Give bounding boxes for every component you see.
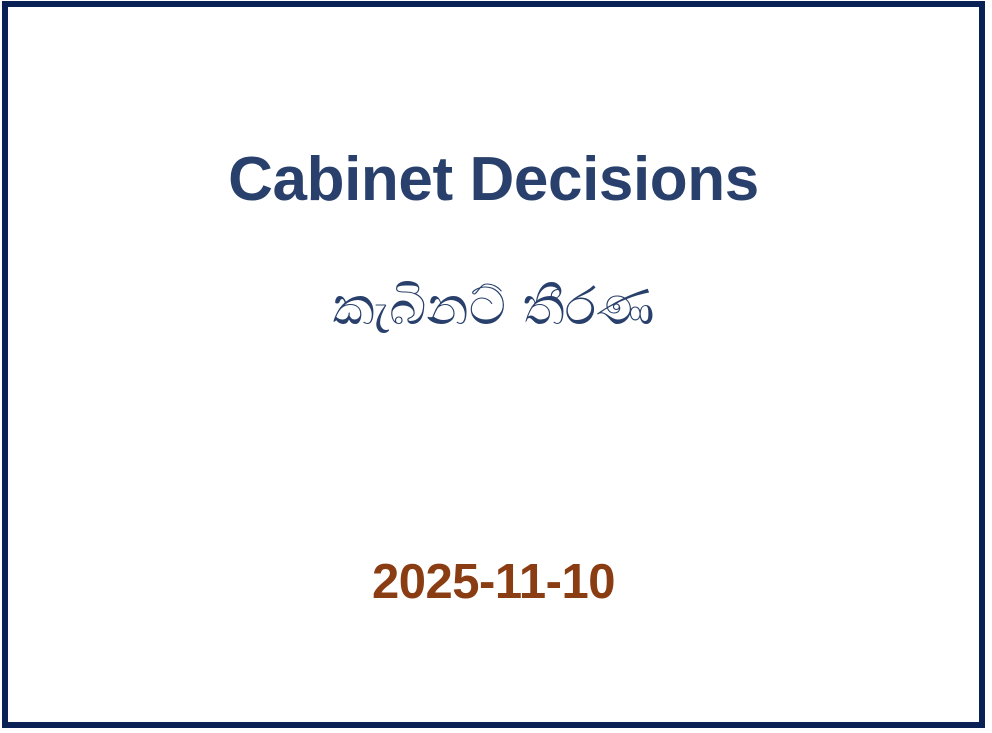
cover-content: Cabinet Decisions කැබිනට් තීරණ 2025-11-1… (8, 7, 979, 722)
title-block: Cabinet Decisions කැබිනට් තීරණ (8, 147, 979, 338)
page-title-english: Cabinet Decisions (8, 147, 979, 214)
document-date: 2025-11-10 (8, 556, 979, 610)
page-title-sinhala: කැබිනට් තීරණ (8, 276, 979, 338)
cover-page: Cabinet Decisions කැබිනට් තීරණ 2025-11-1… (0, 0, 992, 733)
